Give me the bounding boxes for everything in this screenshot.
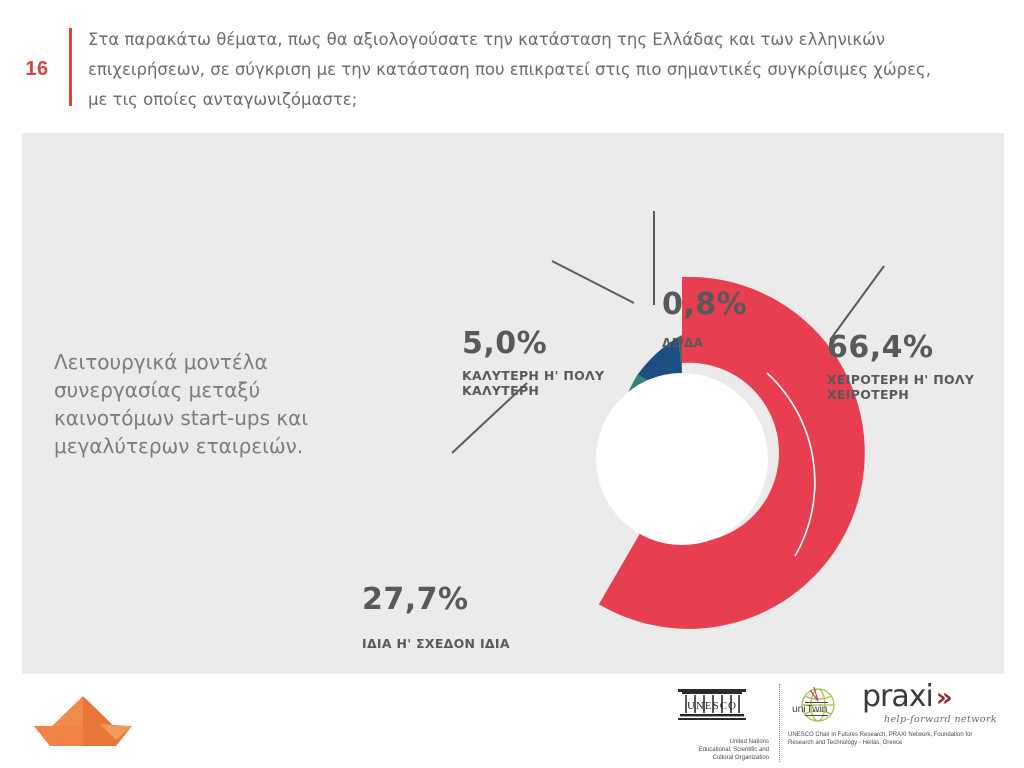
chart-caption-line-4: μεγαλύτερων εταιρειών. [54, 432, 344, 460]
chart-panel: Λειτουργικά μοντέλα συνεργασίας μεταξύ κ… [22, 133, 1004, 674]
slide-header: 16 Στα παρακάτω θέματα, πως θα αξιολογού… [0, 0, 1024, 120]
unitwin-praxi-block: uniTwin praxi» help-forward network UNES… [788, 682, 1010, 747]
header-line-1: Στα παρακάτω θέματα, πως θα αξιολογούσατ… [88, 25, 988, 55]
unesco-caption: United Nations Educational, Scientific a… [653, 738, 771, 762]
callout-better-label-line-1: ΚΑΛΥΤΕΡΗ Η' ΠΟΛΥ [462, 368, 604, 383]
chart-caption-line-2: συνεργασίας μεταξύ [54, 376, 344, 404]
callout-worse-label-line-1: ΧΕΙΡΟΤΕΡΗ Η' ΠΟΛΥ [827, 372, 974, 387]
header-line-3: με τις οποίες ανταγωνιζόμαστε; [88, 85, 988, 115]
unesco-wordmark: UNESCO [687, 700, 737, 712]
callout-better-label-line-2: ΚΑΛΥΤΕΡΗ [462, 383, 604, 398]
slide-number: 16 [14, 58, 60, 81]
callout-dk: 0,8% ΔΞ/ΔΑ [662, 288, 747, 351]
callout-same: 27,7% ΙΔΙΑ Η' ΣΧΕΔΟΝ ΙΔΙΑ [362, 583, 510, 651]
partner-logos: UNESCO United Nations Educational, Scien… [653, 682, 1010, 762]
slide-footer: UNESCO United Nations Educational, Scien… [0, 674, 1024, 768]
unesco-temple-icon: UNESCO [674, 682, 750, 732]
callout-worse-label: ΧΕΙΡΟΤΕΡΗ Η' ΠΟΛΥ ΧΕΙΡΟΤΕΡΗ [827, 372, 974, 402]
header-accent-rule [69, 28, 72, 106]
unitwin-part1: uni [792, 703, 805, 715]
chart-caption-line-3: καινοτόμων start-ups και [54, 404, 344, 432]
praxi-tagline: help-forward network [884, 714, 1010, 725]
praxi-caption-line-1: UNESCO Chair in Futures Research, PRAXI … [788, 731, 1010, 739]
praxi-chevron-icon: » [936, 683, 949, 713]
paper-boat-logo [28, 690, 138, 752]
header-line-2: επιχειρήσεων, σε σύγκριση με την κατάστα… [88, 55, 988, 85]
callout-better: 5,0% ΚΑΛΥΤΕΡΗ Η' ΠΟΛΥ ΚΑΛΥΤΕΡΗ [462, 327, 604, 398]
callout-better-label: ΚΑΛΥΤΕΡΗ Η' ΠΟΛΥ ΚΑΛΥΤΕΡΗ [462, 368, 604, 398]
callout-worse-value: 66,4% [827, 331, 974, 365]
callout-worse-label-line-2: ΧΕΙΡΟΤΕΡΗ [827, 387, 974, 402]
callout-worse: 66,4% ΧΕΙΡΟΤΕΡΗ Η' ΠΟΛΥ ΧΕΙΡΟΤΕΡΗ [827, 331, 974, 402]
logo-divider [779, 684, 781, 762]
chart-caption-line-1: Λειτουργικά μοντέλα [54, 348, 344, 376]
callout-same-label: ΙΔΙΑ Η' ΣΧΕΔΟΝ ΙΔΙΑ [362, 636, 510, 651]
praxi-wordmark-row: praxi» [862, 682, 1010, 713]
callout-better-value: 5,0% [462, 327, 604, 361]
unesco-logo: UNESCO United Nations Educational, Scien… [653, 682, 779, 762]
callout-same-value: 27,7% [362, 583, 510, 617]
callout-dk-value: 0,8% [662, 288, 747, 322]
callout-dk-label-line-1: ΔΞ/ΔΑ [662, 336, 747, 351]
unitwin-wordmark: uniTwin [792, 702, 828, 716]
callout-same-label-line-1: ΙΔΙΑ Η' ΣΧΕΔΟΝ ΙΔΙΑ [362, 636, 510, 651]
praxi-caption-line-2: Research and Technology - Hellas, Greece [788, 739, 1010, 747]
unitwin-part2: Twin [805, 702, 828, 716]
unesco-caption-line-3: Cultural Organization [653, 754, 769, 762]
praxi-caption: UNESCO Chair in Futures Research, PRAXI … [788, 731, 1010, 747]
praxi-logo: praxi» help-forward network [862, 682, 1010, 728]
unesco-caption-line-2: Educational, Scientific and [653, 746, 769, 754]
unesco-caption-line-1: United Nations [653, 738, 769, 746]
unitwin-logo: uniTwin [788, 683, 848, 727]
praxi-wordmark: praxi [862, 679, 933, 714]
donut-hole [596, 373, 768, 545]
chart-caption: Λειτουργικά μοντέλα συνεργασίας μεταξύ κ… [54, 348, 344, 460]
header-question-text: Στα παρακάτω θέματα, πως θα αξιολογούσατ… [88, 25, 988, 115]
callout-dk-label: ΔΞ/ΔΑ [662, 336, 747, 351]
